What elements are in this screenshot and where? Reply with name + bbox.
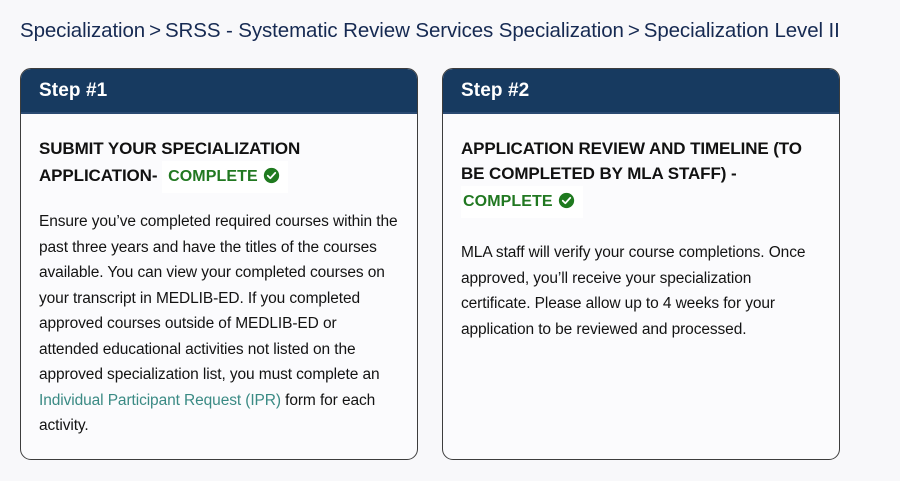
check-circle-icon [558, 191, 575, 216]
step-card-1-title-dash: - [152, 166, 158, 185]
breadcrumb-item-level-ii[interactable]: Specialization Level II [644, 19, 840, 42]
breadcrumb-separator-1: > [145, 19, 165, 42]
step-card-2-description: MLA staff will verify your course comple… [461, 240, 821, 342]
step-card-2-title: APPLICATION REVIEW AND TIMELINE (TO BE C… [461, 136, 821, 218]
step-card-1-title: SUBMIT YOUR SPECIALIZATION APPLICATION- … [39, 136, 399, 193]
ipr-link[interactable]: Individual Participant Request (IPR) [39, 392, 281, 409]
step-card-2: Step #2 APPLICATION REVIEW AND TIMELINE … [442, 68, 840, 460]
status-badge: COMPLETE [162, 161, 288, 193]
step-card-2-header-label: Step #2 [461, 80, 529, 102]
step-card-2-header: Step #2 [443, 69, 839, 114]
step-card-1: Step #1 SUBMIT YOUR SPECIALIZATION APPLI… [20, 68, 418, 460]
status-badge: COMPLETE [461, 186, 583, 218]
page-root: Specialization>SRSS - Systematic Review … [0, 0, 900, 481]
step-card-2-title-text: APPLICATION REVIEW AND TIMELINE (TO BE C… [461, 139, 802, 183]
step-card-2-body: APPLICATION REVIEW AND TIMELINE (TO BE C… [443, 114, 839, 459]
status-badge-label: COMPLETE [168, 168, 258, 185]
step-card-2-description-part-1: MLA staff will verify your course comple… [461, 244, 805, 338]
breadcrumb-separator-2: > [624, 19, 644, 42]
step-card-2-title-dash: - [731, 164, 737, 183]
status-badge-label: COMPLETE [463, 193, 553, 210]
step-cards-container: Step #1 SUBMIT YOUR SPECIALIZATION APPLI… [20, 68, 880, 460]
step-card-1-body: SUBMIT YOUR SPECIALIZATION APPLICATION- … [21, 114, 417, 459]
step-card-1-header-label: Step #1 [39, 80, 107, 102]
step-card-1-description: Ensure you’ve completed required courses… [39, 209, 399, 439]
step-card-1-description-part-1: Ensure you’ve completed required courses… [39, 213, 398, 383]
check-circle-icon [263, 166, 280, 191]
breadcrumb-item-specialization[interactable]: Specialization [20, 19, 145, 42]
breadcrumb: Specialization>SRSS - Systematic Review … [20, 16, 840, 46]
step-card-1-header: Step #1 [21, 69, 417, 114]
breadcrumb-item-srss[interactable]: SRSS - Systematic Review Services Specia… [165, 19, 624, 42]
